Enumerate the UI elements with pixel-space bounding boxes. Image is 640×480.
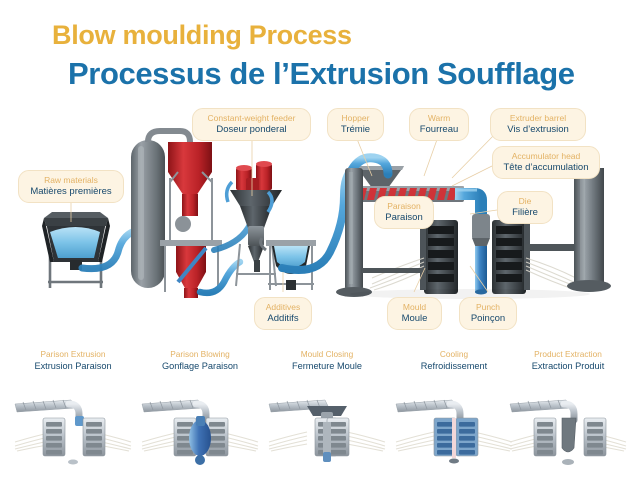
mould-half-left <box>420 220 458 294</box>
callout-punch[interactable]: PunchPoinçon <box>459 297 517 330</box>
callout-label-en: Die <box>507 196 543 206</box>
accumulator-head <box>472 214 490 248</box>
callout-constant-weight-feeder[interactable]: Constant-weight feederDoseur ponderal <box>192 108 311 141</box>
callout-label-fr: Additifs <box>264 313 302 324</box>
callout-label-en: Raw materials <box>28 175 114 185</box>
parison <box>475 246 487 295</box>
callout-label-en: Warm <box>419 113 459 123</box>
additives-tank <box>261 238 316 290</box>
cyclone-red-1 <box>160 142 222 298</box>
callout-label-fr: Doseur ponderal <box>202 124 301 135</box>
callout-hopper[interactable]: HopperTrémie <box>327 108 384 141</box>
mould-half-right <box>492 220 530 294</box>
machine-column-right <box>567 168 611 292</box>
callout-parison[interactable]: ParaisonParaison <box>374 196 434 229</box>
callout-label-fr: Tête d’accumulation <box>502 162 590 173</box>
callout-label-en: Punch <box>469 302 507 312</box>
callout-die[interactable]: DieFilière <box>497 191 553 224</box>
blow-moulding-line-illustration <box>0 0 640 480</box>
callout-raw-materials[interactable]: Raw materialsMatières premières <box>18 170 124 203</box>
callout-accumulator-head[interactable]: Accumulator headTête d’accumulation <box>492 146 600 179</box>
callout-extruder-barrel[interactable]: Extruder barrelVis d’extrusion <box>490 108 586 141</box>
callout-label-fr: Filière <box>507 207 543 218</box>
callout-label-fr: Moule <box>397 313 432 324</box>
callout-label-en: Additives <box>264 302 302 312</box>
infographic-root: Blow moulding Process Processus de l’Ext… <box>0 0 640 480</box>
callout-label-fr: Vis d’extrusion <box>500 124 576 135</box>
callout-label-fr: Matières premières <box>28 186 114 197</box>
callout-mould[interactable]: MouldMoule <box>387 297 442 330</box>
callout-label-en: Extruder barrel <box>500 113 576 123</box>
callout-label-fr: Trémie <box>337 124 374 135</box>
callout-additives[interactable]: AdditivesAdditifs <box>254 297 312 330</box>
callout-label-fr: Fourreau <box>419 124 459 135</box>
callout-label-fr: Paraison <box>384 212 424 223</box>
callout-label-en: Accumulator head <box>502 151 590 161</box>
callout-label-en: Mould <box>397 302 432 312</box>
raw-material-hopper <box>42 212 110 288</box>
callout-label-fr: Poinçon <box>469 313 507 324</box>
callout-label-en: Paraison <box>384 201 424 211</box>
silo <box>131 140 165 288</box>
callout-label-en: Constant-weight feeder <box>202 113 301 123</box>
callout-warm[interactable]: WarmFourreau <box>409 108 469 141</box>
callout-label-en: Hopper <box>337 113 374 123</box>
